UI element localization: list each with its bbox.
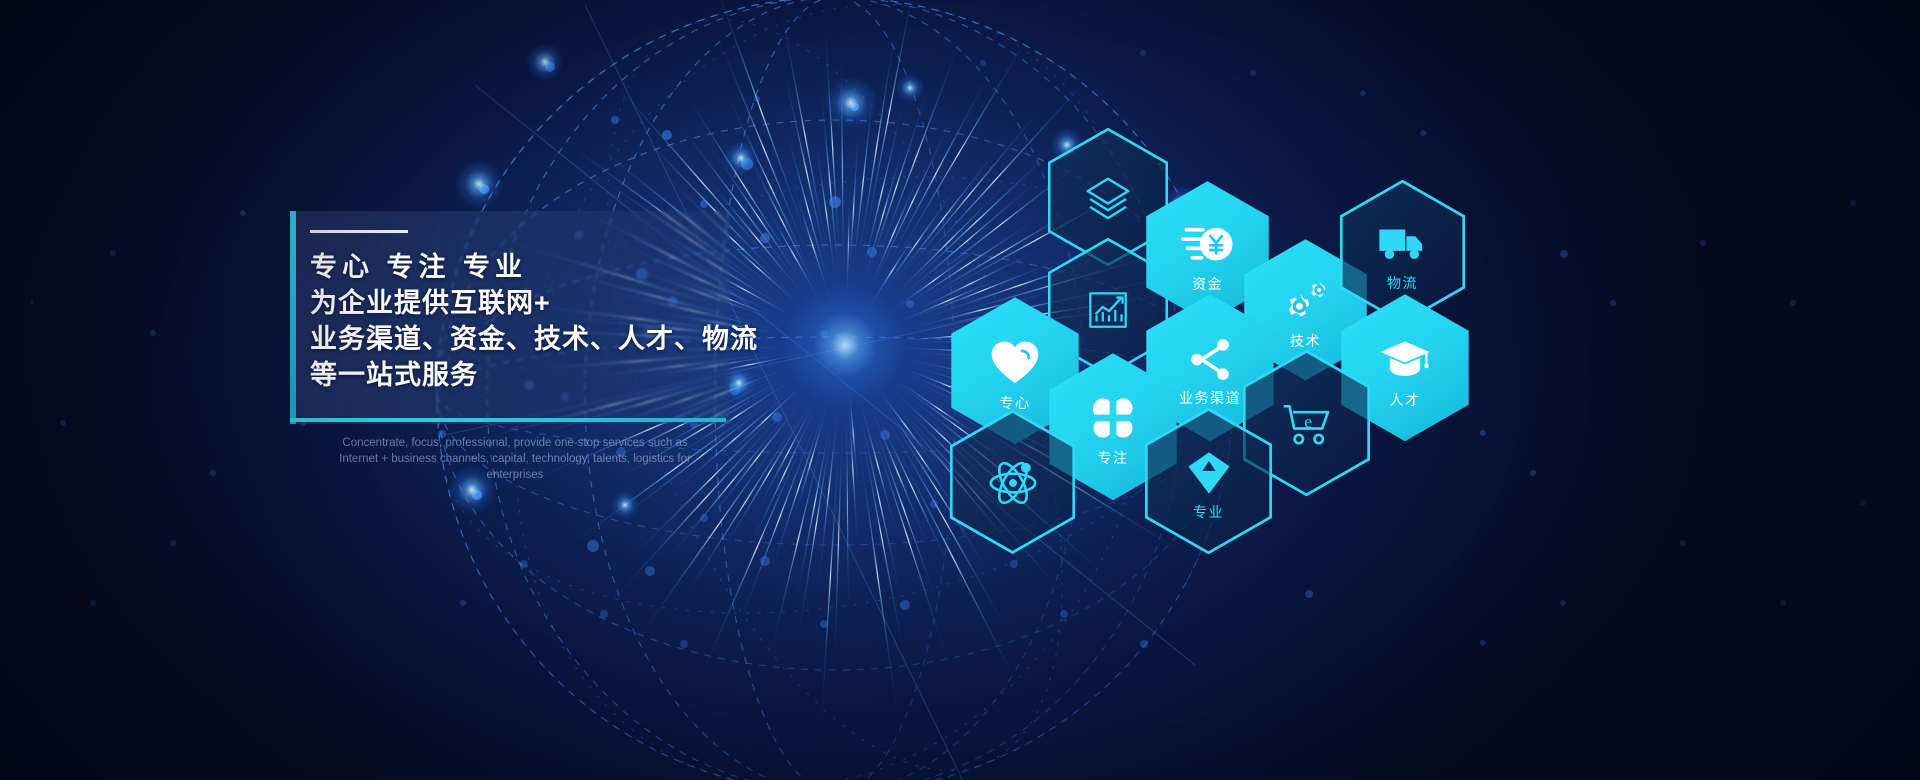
svg-text:e: e (1304, 411, 1312, 431)
hex-label-channels: 业务渠道 (1179, 391, 1241, 405)
hex-label-focus: 专注 (1098, 451, 1129, 465)
hex-label-heart: 专心 (1000, 396, 1031, 410)
share-nodes-icon (1184, 333, 1236, 385)
graduation-cap-icon (1377, 331, 1433, 387)
hex-tile-pro[interactable]: 专业 (1145, 408, 1272, 555)
chart-icon (1083, 284, 1133, 334)
diamond-icon (1183, 447, 1235, 499)
hex-label-talents: 人才 (1390, 393, 1421, 407)
hex-label-capital: 资金 (1192, 277, 1223, 291)
clover-icon (1086, 391, 1140, 445)
gears-icon (1279, 274, 1333, 328)
hex-label-logistics: 物流 (1387, 276, 1418, 290)
hero-banner: 专心 专注 专业 为企业提供互联网+ 业务渠道、资金、技术、人才、物流 等一站式… (0, 0, 1920, 780)
hex-label-pro: 专业 (1193, 505, 1224, 519)
heart-icon (987, 334, 1043, 390)
atom-icon (985, 455, 1041, 511)
truck-icon (1376, 216, 1430, 270)
hex-tile-atom[interactable] (950, 410, 1075, 554)
hex-label-tech: 技术 (1290, 334, 1321, 348)
shopping-cart-e-icon: e (1279, 397, 1335, 453)
layers-icon (1081, 172, 1135, 226)
hex-cluster: 资金 技术 (0, 0, 1920, 780)
yen-coin-icon (1180, 215, 1236, 271)
